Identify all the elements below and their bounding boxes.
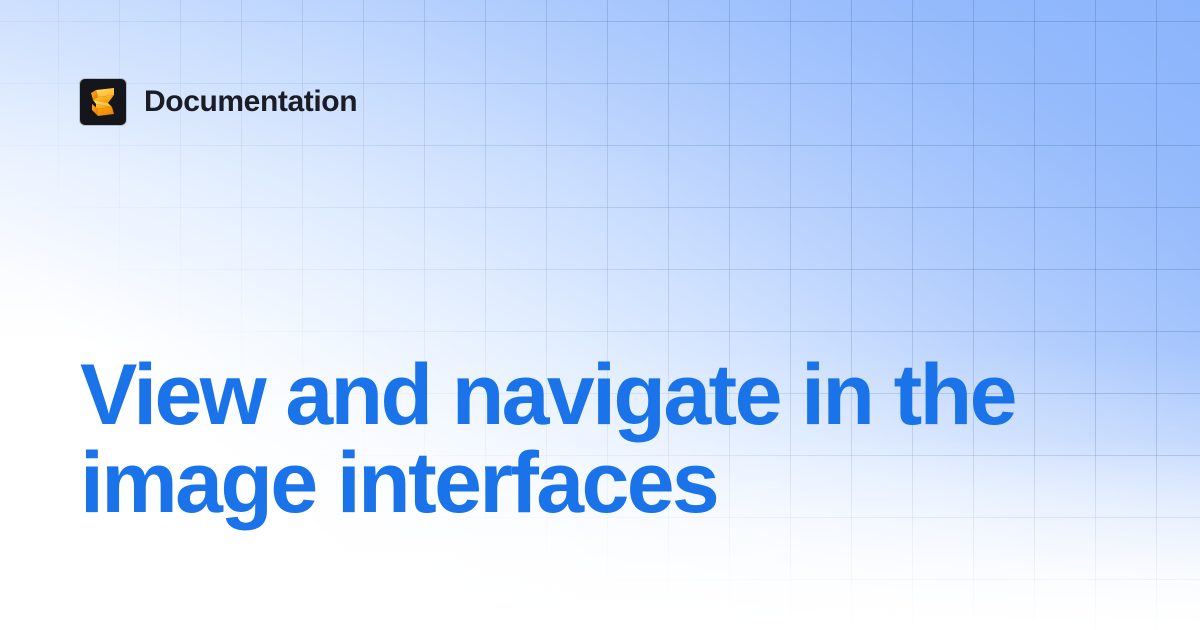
brand-lockup[interactable]: Documentation: [80, 79, 357, 125]
stylized-s-logo-icon: [80, 79, 126, 125]
brand-name-label: Documentation: [144, 85, 357, 119]
page-title: View and navigate in the image interface…: [80, 352, 1120, 527]
og-card: Documentation View and navigate in the i…: [0, 0, 1200, 630]
